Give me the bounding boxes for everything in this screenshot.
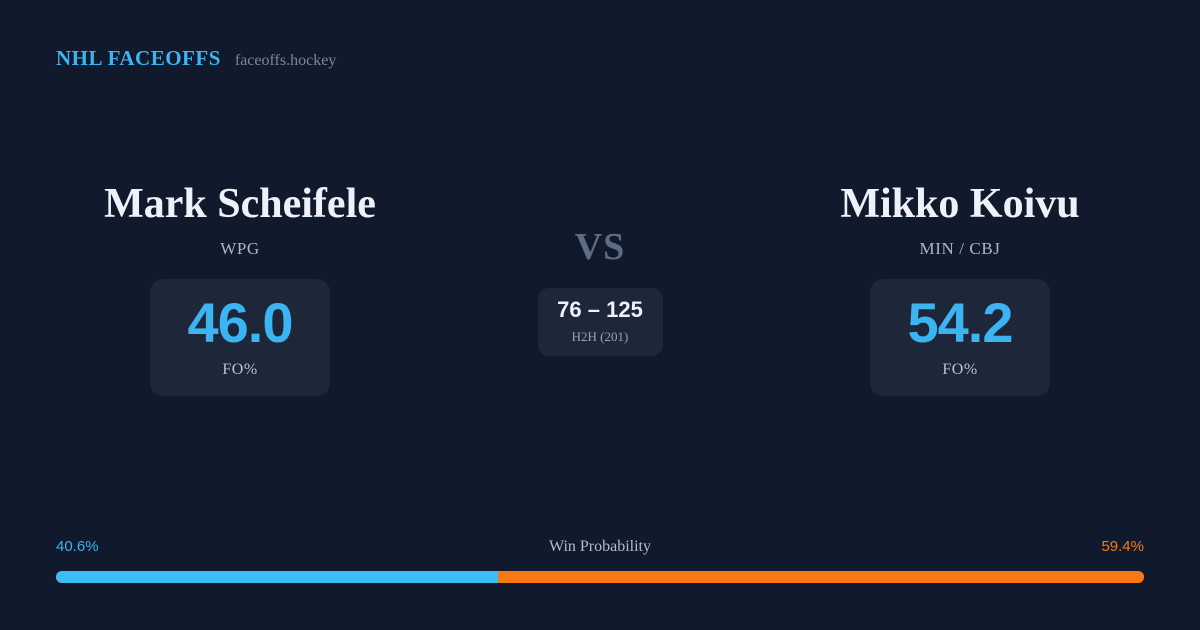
win-probability-bar-right-segment [498,571,1144,583]
win-probability-bar [56,571,1144,583]
win-probability-section: 40.6% Win Probability 59.4% [56,538,1144,583]
head-to-head-card: 76 – 125 H2H (201) [538,288,663,356]
right-player-block: Mikko Koivu MIN / CBJ 54.2 FO% [720,180,1200,396]
left-player-faceoff-percentage: 46.0 [188,295,293,351]
right-player-name: Mikko Koivu [840,180,1079,230]
faceoff-matchup-card: NHL FACEOFFS faceoffs.hockey Mark Scheif… [0,0,1200,630]
right-player-team: MIN / CBJ [920,239,1001,259]
left-player-stat-label: FO% [222,361,257,379]
left-player-stat-card: 46.0 FO% [150,279,330,396]
right-player-stat-card: 54.2 FO% [870,279,1050,396]
left-player-block: Mark Scheifele WPG 46.0 FO% [0,180,480,396]
left-player-team: WPG [220,239,260,259]
win-probability-labels: 40.6% Win Probability 59.4% [56,538,1144,560]
versus-block: VS 76 – 125 H2H (201) [480,180,720,356]
right-player-faceoff-percentage: 54.2 [908,295,1013,351]
right-win-probability-value: 59.4% [1101,538,1144,555]
head-to-head-score: 76 – 125 [557,299,643,321]
vs-label: VS [575,228,626,266]
brand-domain: faceoffs.hockey [235,52,336,70]
win-probability-title: Win Probability [56,538,1144,556]
right-player-stat-label: FO% [942,361,977,379]
matchup-section: Mark Scheifele WPG 46.0 FO% VS 76 – 125 … [0,180,1200,396]
head-to-head-label: H2H (201) [572,329,629,345]
brand-title: NHL FACEOFFS [56,46,221,71]
left-player-name: Mark Scheifele [104,180,376,230]
win-probability-bar-left-segment [56,571,498,583]
site-header: NHL FACEOFFS faceoffs.hockey [56,46,336,71]
